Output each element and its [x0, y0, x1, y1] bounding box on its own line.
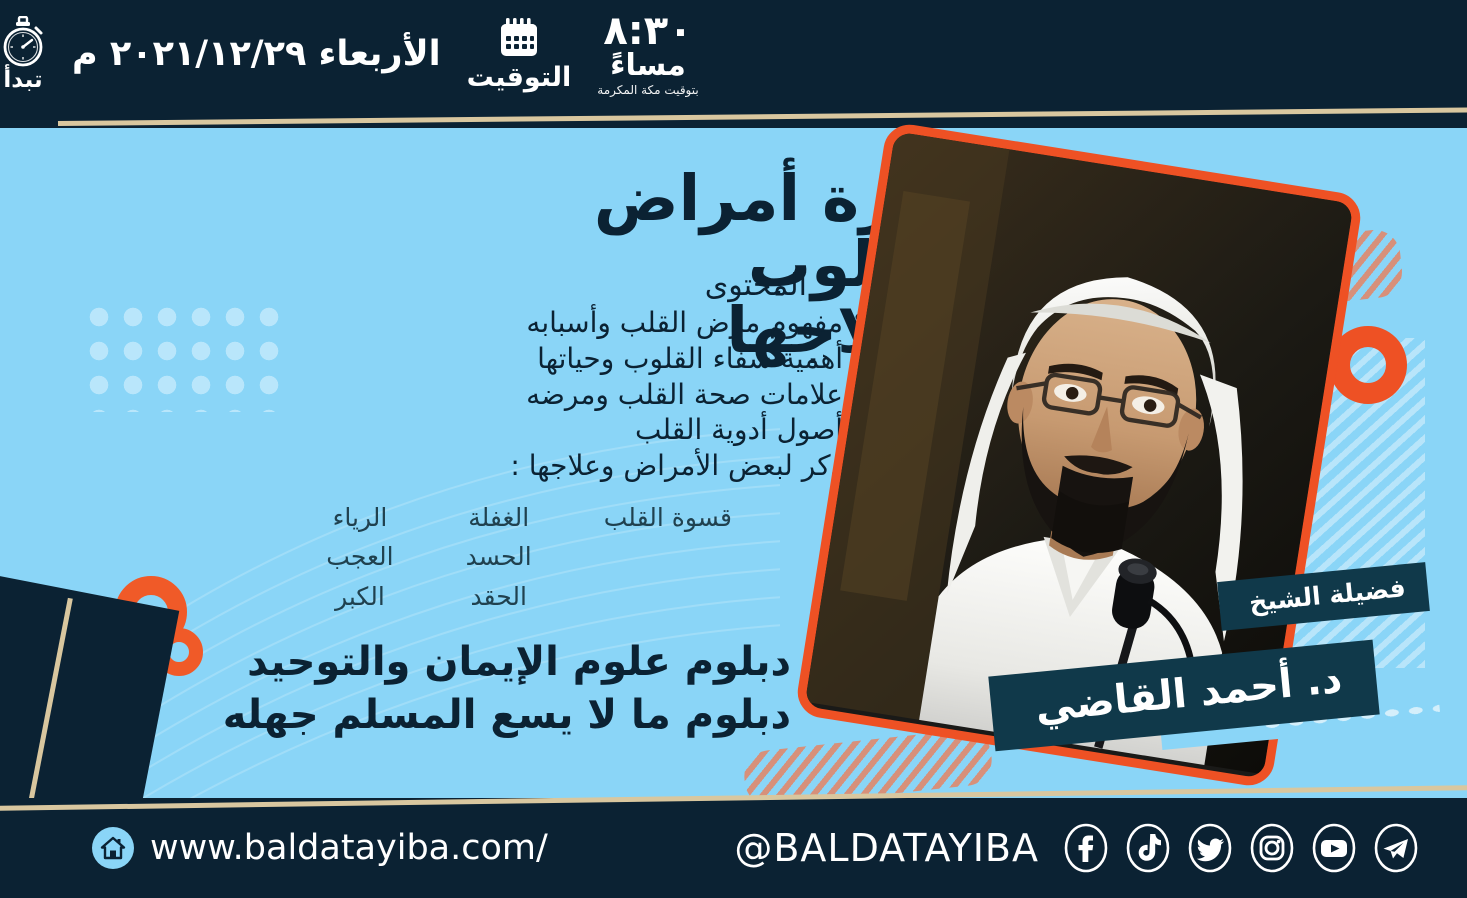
list-item: أصول أدوية القلب [510, 412, 867, 448]
dot-grid-decor [82, 300, 287, 412]
tiktok-icon[interactable] [1123, 823, 1173, 873]
timing-group: التوقيت [467, 17, 572, 91]
header-divider-line [58, 107, 1467, 126]
list-item: دبلوم علوم الإيمان والتوحيد [223, 636, 827, 689]
start-group: تبدأ [0, 16, 46, 92]
instagram-icon[interactable] [1247, 823, 1297, 873]
disease-item: الحقد [466, 579, 532, 615]
time-value: ٨:٣٠ [603, 11, 692, 51]
disease-item: قسوة القلب [604, 500, 732, 536]
disease-item: الرياء [326, 500, 393, 536]
list-item: دبلوم ما لا يسع المسلم جهله [223, 689, 827, 742]
list-item: أهمية شفاء القلوب وحياتها [510, 341, 867, 377]
list-item: ذكر لبعض الأمراض وعلاجها : [510, 448, 867, 484]
disease-item: الحسد [466, 539, 532, 575]
disease-item [604, 579, 732, 615]
disease-item: الغفلة [466, 500, 532, 536]
social-icon-row [1061, 823, 1421, 873]
time-period: مساءً [610, 50, 686, 82]
header-bar: تبدأ الأربعاء ٢٠٢١/١٢/٢٩ م [0, 0, 1467, 108]
website-link[interactable]: www.baldatayiba.com/ [92, 827, 548, 869]
footer-content: www.baldatayiba.com/ @BALDATAYIBA [0, 798, 1467, 898]
time-zone: بتوقيت مكة المكرمة [597, 84, 698, 97]
telegram-icon[interactable] [1371, 823, 1421, 873]
disease-item [604, 539, 732, 575]
event-date: الأربعاء ٢٠٢١/١٢/٢٩ م [72, 37, 441, 72]
disease-item: العجب [326, 539, 393, 575]
time-group: ٨:٣٠ مساءً بتوقيت مكة المكرمة [597, 11, 698, 97]
facebook-icon[interactable] [1061, 823, 1111, 873]
list-item: علامات صحة القلب ومرضه [510, 377, 867, 413]
social-handle: @BALDATAYIBA [734, 826, 1039, 870]
stopwatch-icon [0, 16, 46, 68]
youtube-icon[interactable] [1309, 823, 1359, 873]
calendar-icon [497, 17, 541, 61]
disease-list-grid: قسوة القلب الغفلة الرياء الحسد العجب الح… [326, 500, 732, 615]
content-bullet-list: مفهوم مرض القلب وأسبابه أهمية شفاء القلو… [510, 305, 867, 484]
poster-canvas: دورةأمراض القلوب وعلاجها المحتوى مفهوم م… [0, 0, 1467, 898]
diploma-list: دبلوم علوم الإيمان والتوحيد دبلوم ما لا … [223, 636, 827, 742]
website-url-text: www.baldatayiba.com/ [150, 828, 548, 868]
content-heading: المحتوى [705, 268, 807, 303]
header-content: تبدأ الأربعاء ٢٠٢١/١٢/٢٩ م [0, 0, 760, 108]
start-label: تبدأ [3, 69, 42, 92]
list-item: مفهوم مرض القلب وأسبابه [510, 305, 867, 341]
timing-label: التوقيت [467, 64, 572, 91]
twitter-icon[interactable] [1185, 823, 1235, 873]
home-icon [92, 827, 134, 869]
disease-item: الكبر [326, 579, 393, 615]
